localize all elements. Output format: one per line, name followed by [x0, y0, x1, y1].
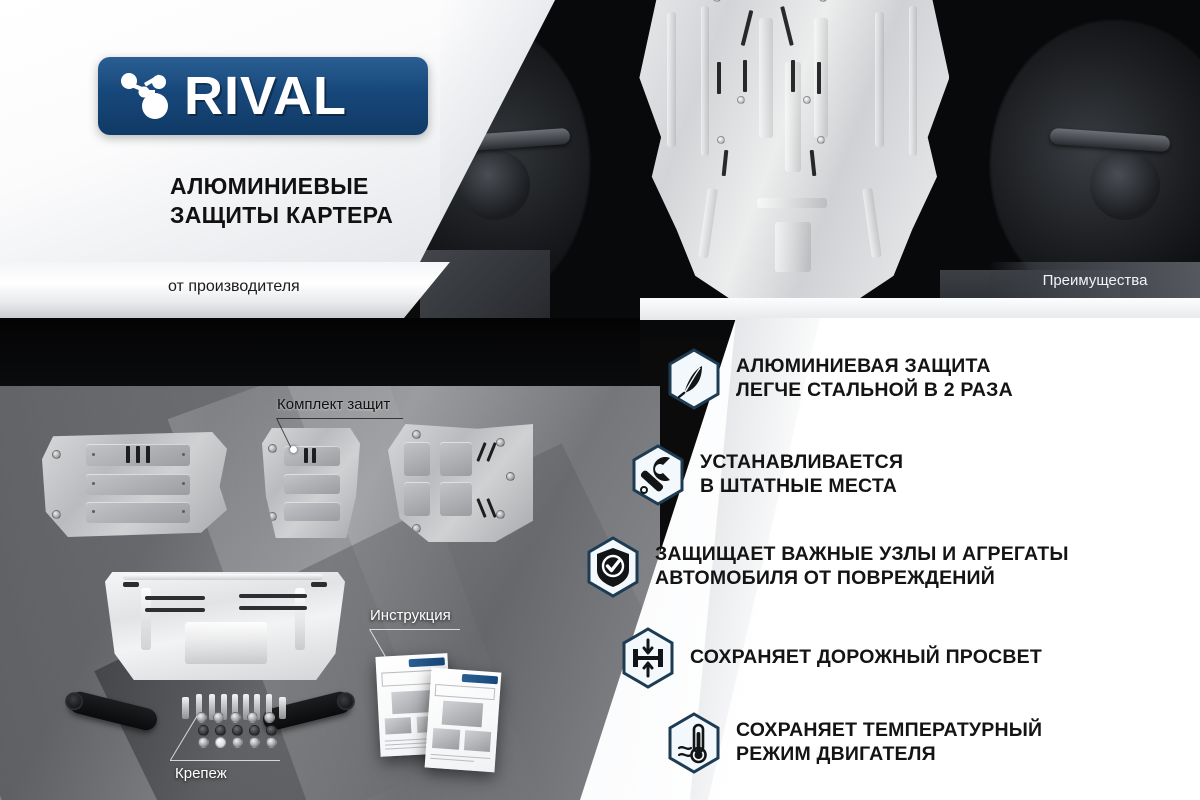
benefit-text-1-line1: АЛЮМИНИЕВАЯ ЗАЩИТА [736, 355, 1013, 379]
benefit-text-4: СОХРАНЯЕТ ДОРОЖНЫЙ ПРОСВЕТ [690, 646, 1042, 670]
photo-bottom-sliver [640, 298, 1200, 320]
benefit-text-3-line2: АВТОМОБИЛЯ ОТ ПОВРЕЖДЕНИЙ [655, 567, 1069, 591]
kit-plate-2 [262, 428, 360, 538]
callout-kit-rule [277, 418, 403, 419]
kit-plate-1 [42, 432, 227, 537]
callout-instruction-rule [370, 629, 460, 630]
benefit-item-5[interactable]: СОХРАНЯЕТ ТЕМПЕРАТУРНЫЙ РЕЖИМ ДВИГАТЕЛЯ [666, 712, 1042, 774]
benefit-text-3: ЗАЩИЩАЕТ ВАЖНЫЕ УЗЛЫ И АГРЕГАТЫ АВТОМОБИ… [655, 543, 1069, 591]
benefit-text-2: УСТАНАВЛИВАЕТСЯ В ШТАТНЫЕ МЕСТА [700, 451, 903, 499]
benefit-item-3[interactable]: ЗАЩИЩАЕТ ВАЖНЫЕ УЗЛЫ И АГРЕГАТЫ АВТОМОБИ… [585, 536, 1069, 598]
callout-kit-dot [290, 446, 297, 453]
benefit-text-1-line2: ЛЕГЧЕ СТАЛЬНОЙ В 2 РАЗА [736, 379, 1013, 403]
page-title-line1: АЛЮМИНИЕВЫЕ [170, 172, 510, 201]
benefit-item-4[interactable]: СОХРАНЯЕТ ДОРОЖНЫЙ ПРОСВЕТ [620, 627, 1042, 689]
logo-wordmark: RIVAL [184, 69, 347, 123]
installed-skid-plate [639, 0, 949, 322]
benefit-text-2-line1: УСТАНАВЛИВАЕТСЯ [700, 451, 903, 475]
shield-check-icon [585, 536, 641, 598]
main-plate-photo [105, 560, 345, 680]
thermometer-icon [666, 712, 722, 774]
benefit-text-5: СОХРАНЯЕТ ТЕМПЕРАТУРНЫЙ РЕЖИМ ДВИГАТЕЛЯ [736, 719, 1042, 767]
benefit-text-2-line2: В ШТАТНЫЕ МЕСТА [700, 475, 903, 499]
section-tag-advantages: Преимущества [990, 262, 1200, 298]
page-title: АЛЮМИНИЕВЫЕ ЗАЩИТЫ КАРТЕРА [170, 172, 510, 230]
subtitle-bar: от производителя [0, 262, 450, 318]
callout-fasteners-label: Крепеж [175, 765, 227, 782]
leaf-icon [666, 348, 722, 410]
poster-canvas: Преимущества RIVAL АЛЮМИНИЕВЫЕ ЗАЩИТЫ КА… [0, 0, 1200, 800]
benefit-text-1: АЛЮМИНИЕВАЯ ЗАЩИТА ЛЕГЧЕ СТАЛЬНОЙ В 2 РА… [736, 355, 1013, 403]
benefit-item-2[interactable]: УСТАНАВЛИВАЕТСЯ В ШТАТНЫЕ МЕСТА [630, 444, 903, 506]
divider-dark-band [0, 318, 640, 386]
rival-logo[interactable]: RIVAL [98, 57, 428, 135]
callout-kit-label: Комплект защит [277, 396, 390, 413]
suspension-right [1090, 150, 1160, 220]
benefit-text-5-line1: СОХРАНЯЕТ ТЕМПЕРАТУРНЫЙ [736, 719, 1042, 743]
callout-instruction-label: Инструкция [370, 607, 451, 624]
benefit-text-5-line2: РЕЖИМ ДВИГАТЕЛЯ [736, 743, 1042, 767]
callout-fasteners-rule [170, 760, 280, 761]
kit-plate-3 [388, 424, 533, 542]
benefit-item-1[interactable]: АЛЮМИНИЕВАЯ ЗАЩИТА ЛЕГЧЕ СТАЛЬНОЙ В 2 РА… [666, 348, 1013, 410]
benefit-text-3-line1: ЗАЩИЩАЕТ ВАЖНЫЕ УЗЛЫ И АГРЕГАТЫ [655, 543, 1069, 567]
ground-clearance-icon [620, 627, 676, 689]
section-tag-label: Преимущества [1043, 272, 1148, 289]
page-title-line2: ЗАЩИТЫ КАРТЕРА [170, 201, 510, 230]
wrench-icon [630, 444, 686, 506]
subtitle-text: от производителя [168, 278, 300, 296]
benefit-text-4-line1: СОХРАНЯЕТ ДОРОЖНЫЙ ПРОСВЕТ [690, 646, 1042, 670]
molecule-icon [114, 68, 174, 124]
